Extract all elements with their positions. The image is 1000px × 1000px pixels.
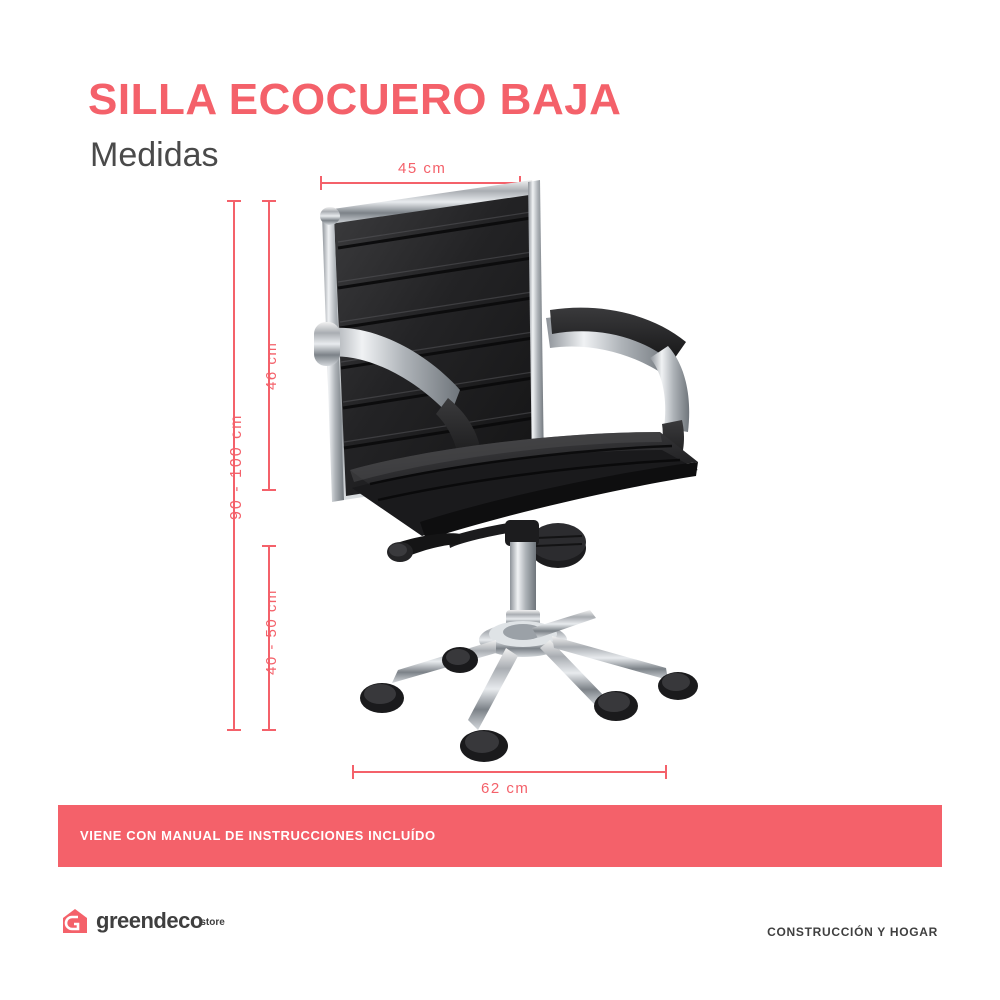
chair-base — [360, 610, 698, 762]
page-title: SILLA ECOCUERO BAJA — [88, 78, 621, 122]
dim-tick-backrest-bottom — [262, 489, 276, 491]
house-logo-icon — [62, 908, 88, 934]
chair-castor — [594, 691, 638, 721]
dim-label-total-height: 90 - 100 cm — [228, 414, 246, 520]
chair-gas-cylinder — [505, 520, 540, 628]
dim-tick-seat-top — [262, 545, 276, 547]
brand-superscript: store — [200, 918, 224, 928]
footer-category: CONSTRUCCIÓN Y HOGAR — [767, 925, 938, 939]
chair-castor — [360, 683, 404, 713]
page-subtitle: Medidas — [90, 138, 219, 172]
product-dimensions-sheet: SILLA ECOCUERO BAJA Medidas 45 cm 46 cm … — [0, 0, 1000, 1000]
dim-line-base-width — [352, 771, 666, 773]
office-chair-illustration — [300, 170, 720, 770]
chair-castor — [442, 647, 478, 673]
dim-tick-total-bottom — [227, 729, 241, 731]
info-banner-text: VIENE CON MANUAL DE INSTRUCCIONES INCLUÍ… — [80, 828, 436, 843]
chair-castor — [460, 730, 508, 762]
dim-label-base-width: 62 cm — [481, 780, 529, 797]
chair-castor — [658, 672, 698, 700]
dim-tick-seat-bottom — [262, 729, 276, 731]
dim-label-backrest-height: 46 cm — [263, 342, 280, 390]
dim-tick-total-top — [227, 200, 241, 202]
brand-name: greendeco — [96, 910, 203, 932]
dim-label-seat-height: 40 - 50 cm — [263, 589, 280, 675]
brand-logo: greendeco store — [62, 908, 203, 934]
dim-tick-backrest-top — [262, 200, 276, 202]
